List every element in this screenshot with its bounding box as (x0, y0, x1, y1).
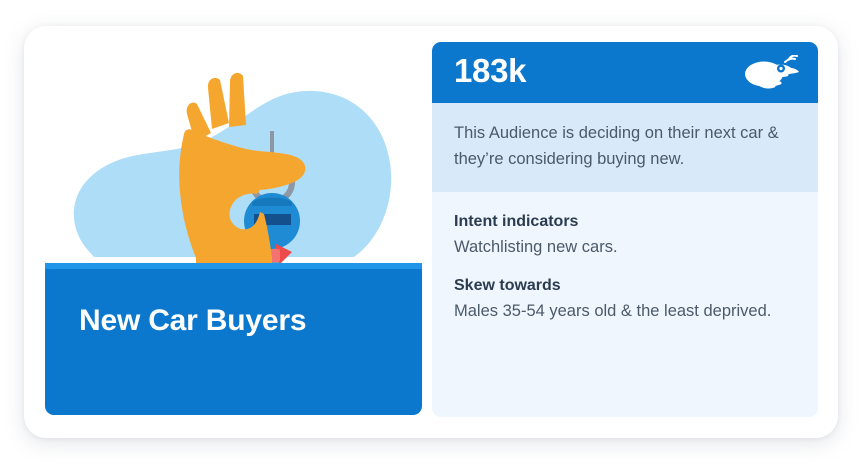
audience-visual-panel: New Car Buyers (24, 26, 422, 438)
audience-card: New Car Buyers 183k (24, 26, 838, 438)
kiwi-bird-icon (744, 55, 800, 93)
audience-detail-sections: Intent indicators Watchlisting new cars.… (432, 192, 818, 324)
audience-info-panel: 183k (432, 42, 818, 417)
detail-heading-skew-towards: Skew towards (454, 274, 796, 298)
audience-title-plate: New Car Buyers (45, 263, 422, 415)
audience-description: This Audience is deciding on their next … (454, 120, 796, 172)
hand-holding-car-key-illustration (24, 26, 422, 276)
detail-body-skew-towards: Males 35-54 years old & the least depriv… (454, 298, 796, 324)
detail-section: Intent indicators Watchlisting new cars. (454, 210, 796, 260)
detail-heading-intent-indicators: Intent indicators (454, 210, 796, 234)
detail-section: Skew towards Males 35-54 years old & the… (454, 274, 796, 324)
title-plate-highlight (45, 263, 422, 269)
audience-size-value: 183k (454, 52, 526, 90)
audience-title: New Car Buyers (79, 304, 306, 338)
audience-stat-header: 183k (432, 42, 818, 103)
detail-body-intent-indicators: Watchlisting new cars. (454, 234, 796, 260)
audience-description-band: This Audience is deciding on their next … (432, 103, 818, 192)
screenshot-root: New Car Buyers 183k (0, 0, 862, 464)
